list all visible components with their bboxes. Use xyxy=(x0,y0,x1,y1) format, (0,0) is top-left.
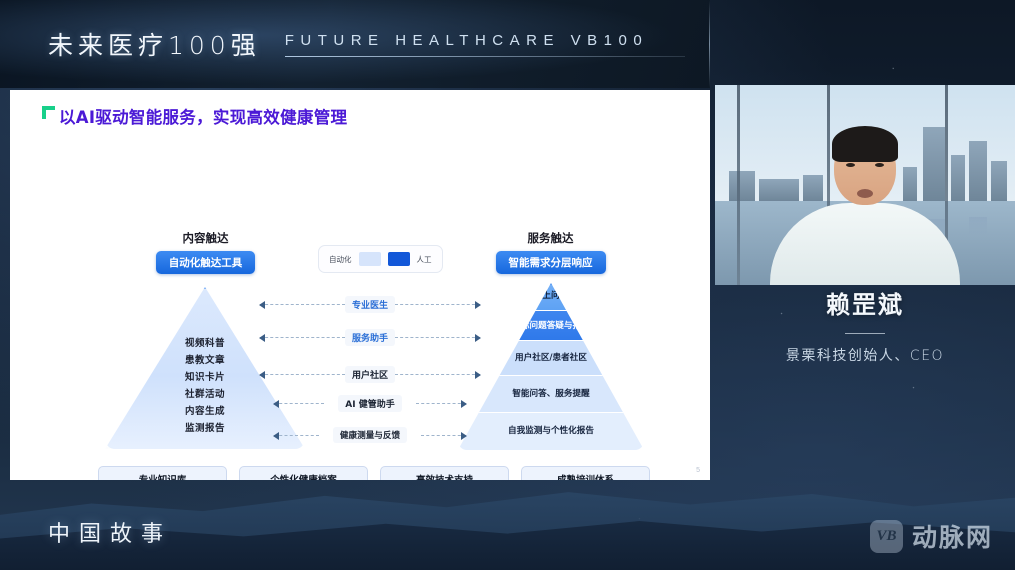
video-building xyxy=(991,161,1007,201)
video-building xyxy=(903,167,917,201)
arrow-line-right xyxy=(416,403,466,404)
china-story-label: 中国故事 xyxy=(48,516,172,548)
support-card-row: 专业知识库 疾病数据库｜患者对应病症 个性化健康档案 患者疾病旅程｜历史行为数据… xyxy=(98,466,650,480)
video-building xyxy=(923,127,945,201)
video-building xyxy=(951,155,965,201)
column-label-right: 服务触达 xyxy=(468,230,633,246)
speaker-mouth xyxy=(857,189,873,198)
speaker-hair xyxy=(832,126,898,162)
service-reach-pyramid: 线上问诊 非标问题答疑与指导 用户社区/患者社区 智能问答、服务提醒 自我监测与… xyxy=(458,283,644,450)
speaker-name: 赖罡斌 xyxy=(715,285,1015,320)
triangle-item: 知识卡片 xyxy=(185,369,225,383)
vb-logo-mark-icon: VB xyxy=(870,520,903,553)
triangle-item: 患教文章 xyxy=(185,352,225,366)
support-card-title: 高效技术支持 xyxy=(385,472,504,480)
arrow-line-left xyxy=(274,435,319,436)
banner-title-cn: 未来医疗100强 xyxy=(48,26,261,62)
event-banner: 未来医疗100强 FUTURE HEALTHCARE VB100 xyxy=(0,0,710,88)
column-header-service-reach: 服务触达 智能需求分层响应 xyxy=(468,230,633,274)
video-building xyxy=(803,175,823,201)
pyramid-outline xyxy=(458,283,644,450)
connector-row: 专业医生 xyxy=(260,296,480,313)
legend-automation-manual: 自动化 人工 xyxy=(318,245,443,273)
connector-label: 服务助手 xyxy=(345,329,395,346)
arrow-line-left xyxy=(274,403,324,404)
banner-edge-divider xyxy=(709,0,710,88)
video-water-reflection xyxy=(969,217,987,237)
speaker-video-feed[interactable] xyxy=(715,85,1015,285)
connector-label: 专业医生 xyxy=(345,296,395,313)
legend-label-automation: 自动化 xyxy=(329,254,352,265)
speaker-info-card: 赖罡斌 景栗科技创始人、CEO xyxy=(715,285,1015,365)
arrow-line-left xyxy=(260,374,345,375)
arrow-head-left-icon xyxy=(259,334,265,342)
connector-row: AI 健管助手 xyxy=(260,395,480,412)
vb-logo-text: 动脉网 xyxy=(912,518,993,554)
window-mullion xyxy=(737,85,740,285)
support-card-title: 成熟培训体系 xyxy=(526,472,645,480)
arrow-head-right-icon xyxy=(475,301,481,309)
speaker-eye-right xyxy=(875,163,884,167)
legend-swatch-dark xyxy=(388,252,410,266)
arrow-head-left-icon xyxy=(273,432,279,440)
connector-label: 健康测量与反馈 xyxy=(333,427,407,443)
banner-brand: 未来医疗100强 FUTURE HEALTHCARE VB100 xyxy=(48,26,648,62)
support-card[interactable]: 专业知识库 疾病数据库｜患者对应病症 xyxy=(98,466,227,480)
connector-row: 健康测量与反馈 xyxy=(260,427,480,443)
triangle-item: 监测报告 xyxy=(185,420,225,434)
connector-label: 用户社区 xyxy=(345,366,395,383)
arrow-line-right xyxy=(395,304,480,305)
speaker-role: 景栗科技创始人、CEO xyxy=(715,345,1015,365)
pill-automation-tool: 自动化触达工具 xyxy=(156,251,256,274)
connector-arrow-group: 专业医生 服务助手 用户社区 AI 健管助手 健康测量与反馈 xyxy=(260,290,480,440)
slide-title: 以AI驱动智能服务，实现高效健康管理 xyxy=(59,104,347,128)
arrow-head-right-icon xyxy=(461,432,467,440)
arrow-head-left-icon xyxy=(259,371,265,379)
presentation-slide[interactable]: 以AI驱动智能服务，实现高效健康管理 内容触达 自动化触达工具 服务触达 智能需… xyxy=(10,90,710,480)
banner-underline xyxy=(285,56,685,57)
support-card[interactable]: 个性化健康档案 患者疾病旅程｜历史行为数据 xyxy=(239,466,368,480)
column-label-left: 内容触达 xyxy=(128,230,283,246)
arrow-line-right xyxy=(421,435,466,436)
support-card-title: 专业知识库 xyxy=(103,472,222,480)
slide-page-number: 5 xyxy=(696,467,700,474)
video-building xyxy=(759,179,799,201)
arrow-head-right-icon xyxy=(461,400,467,408)
arrow-line-right xyxy=(395,337,480,338)
arrow-head-left-icon xyxy=(273,400,279,408)
triangle-item: 视频科普 xyxy=(185,335,225,349)
column-header-content-reach: 内容触达 自动化触达工具 xyxy=(128,230,283,274)
speaker-eye-left xyxy=(846,163,855,167)
legend-label-manual: 人工 xyxy=(417,254,432,265)
legend-swatch-light xyxy=(359,252,381,266)
triangle-item: 内容生成 xyxy=(185,403,225,417)
video-building xyxy=(729,171,755,201)
corner-bracket-icon xyxy=(42,106,55,119)
arrow-line-left xyxy=(260,337,345,338)
connector-label: AI 健管助手 xyxy=(338,395,401,412)
connector-row: 用户社区 xyxy=(260,366,480,383)
arrow-head-right-icon xyxy=(475,334,481,342)
support-card-title: 个性化健康档案 xyxy=(244,472,363,480)
banner-title-en: FUTURE HEALTHCARE VB100 xyxy=(285,32,648,49)
slide-title-row: 以AI驱动智能服务，实现高效健康管理 xyxy=(42,104,347,128)
pill-tiered-response: 智能需求分层响应 xyxy=(496,251,606,274)
banner-title-en-wrap: FUTURE HEALTHCARE VB100 xyxy=(285,32,648,57)
support-card[interactable]: 成熟培训体系 医疗培训体系｜标准SOP手册 xyxy=(521,466,650,480)
support-card[interactable]: 高效技术支持 RPA自动助手｜AI深度学习 xyxy=(380,466,509,480)
triangle-item: 社群活动 xyxy=(185,386,225,400)
arrow-head-left-icon xyxy=(259,301,265,309)
speaker-divider xyxy=(845,333,885,334)
vb-media-logo: VB 动脉网 xyxy=(870,518,993,554)
arrow-line-left xyxy=(260,304,345,305)
connector-row: 服务助手 xyxy=(260,329,480,346)
arrow-line-right xyxy=(395,374,480,375)
video-building xyxy=(969,141,987,201)
arrow-head-right-icon xyxy=(475,371,481,379)
